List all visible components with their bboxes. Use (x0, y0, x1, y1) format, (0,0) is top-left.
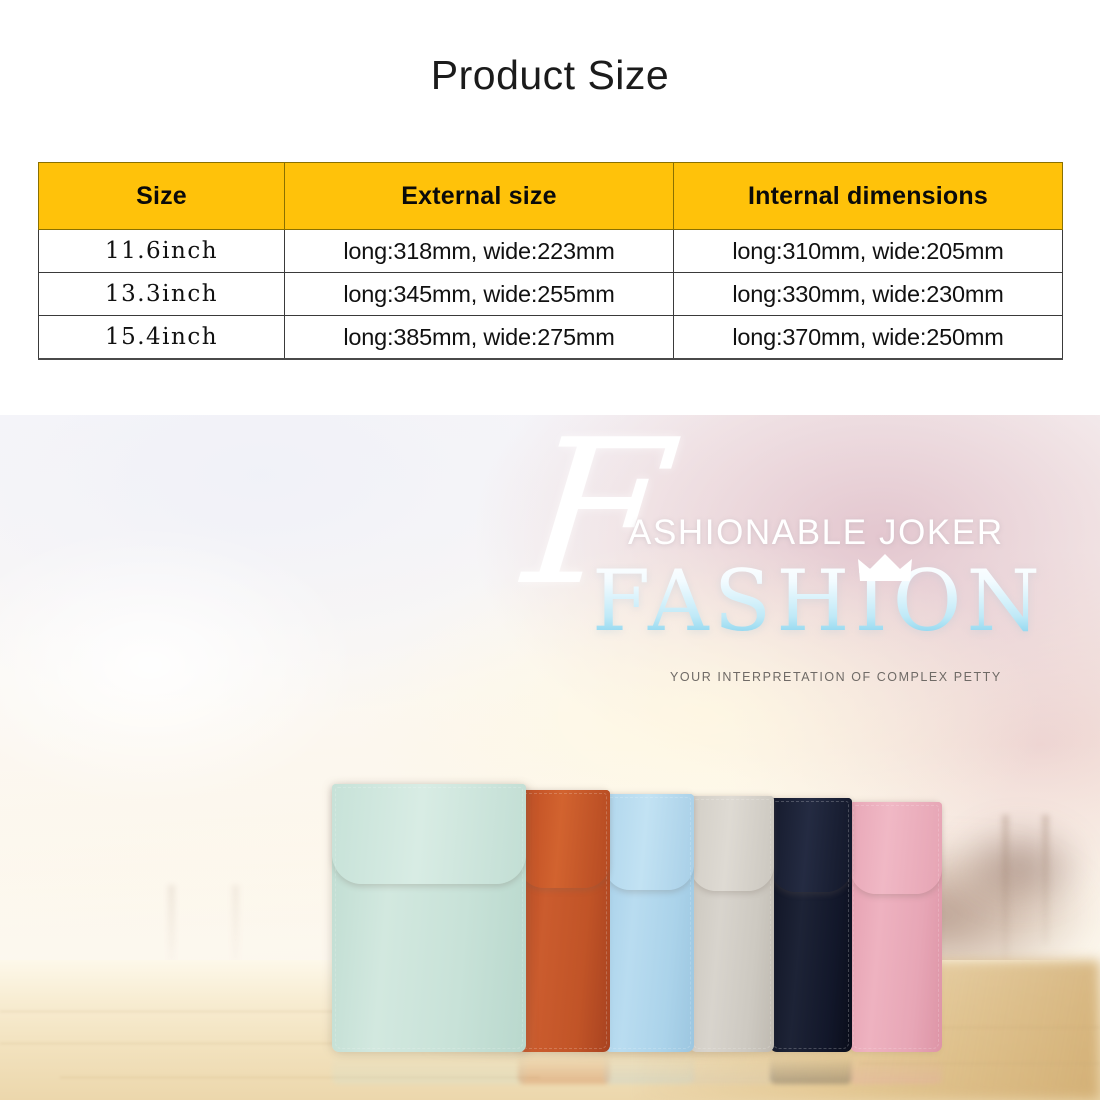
background-furniture-right-dark (930, 805, 1100, 925)
crown-icon (857, 553, 913, 583)
table-body: 11.6inch long:318mm, wide:223mm long:310… (39, 230, 1063, 360)
beige-gray-sleeve-flap (690, 796, 774, 891)
pink-sleeve[interactable] (850, 802, 942, 1052)
orange-brown-sleeve-flap (518, 790, 610, 888)
background-post (1042, 815, 1049, 945)
brand-tagline: YOUR INTERPRETATION OF COMPLEX PETTY (670, 670, 1002, 684)
cell-external-size: long:318mm, wide:223mm (285, 230, 674, 273)
black-navy-sleeve[interactable] (770, 798, 852, 1052)
mint-green-sleeve[interactable] (332, 784, 526, 1052)
cell-external-size: long:345mm, wide:255mm (285, 273, 674, 316)
light-blue-sleeve[interactable] (604, 794, 694, 1052)
black-navy-sleeve-reflection (770, 1056, 852, 1084)
table-row: 13.3inch long:345mm, wide:255mm long:330… (39, 273, 1063, 316)
background-post (1002, 815, 1009, 965)
column-header-size: Size (39, 163, 285, 230)
orange-brown-sleeve-reflection (518, 1054, 610, 1084)
table-header: Size External size Internal dimensions (39, 163, 1063, 230)
background-post (168, 885, 175, 965)
product-size-table: Size External size Internal dimensions 1… (38, 162, 1063, 360)
cell-size: 13.3inch (39, 273, 285, 316)
page-title: Product Size (0, 52, 1100, 99)
beige-gray-sleeve[interactable] (690, 796, 774, 1052)
black-navy-sleeve-flap (770, 798, 852, 892)
product-sleeve-group (332, 770, 944, 1100)
light-blue-sleeve-flap (604, 794, 694, 890)
brand-wordmark-fashion: FASHION (592, 552, 1045, 650)
table-row: 11.6inch long:318mm, wide:223mm long:310… (39, 230, 1063, 273)
table-header-row: Size External size Internal dimensions (39, 163, 1063, 230)
cell-size: 11.6inch (39, 230, 285, 273)
pink-sleeve-reflection (850, 1056, 942, 1084)
column-header-external-size: External size (285, 163, 674, 230)
product-size-page: Product Size Size External size Internal… (0, 0, 1100, 1100)
background-post (232, 885, 239, 965)
cell-internal-dimensions: long:370mm, wide:250mm (674, 316, 1063, 360)
cell-size: 15.4inch (39, 316, 285, 360)
mint-green-sleeve-flap (332, 784, 526, 884)
hero-product-photo: F ASHIONABLE JOKER FASHION YOUR INTERPRE… (0, 415, 1100, 1100)
cell-internal-dimensions: long:330mm, wide:230mm (674, 273, 1063, 316)
orange-brown-sleeve[interactable] (518, 790, 610, 1052)
beige-gray-sleeve-reflection (690, 1056, 774, 1084)
mint-green-sleeve-reflection (332, 1052, 526, 1084)
table-row: 15.4inch long:385mm, wide:275mm long:370… (39, 316, 1063, 360)
brand-name-fashionable-joker: ASHIONABLE JOKER (628, 513, 1004, 553)
pink-sleeve-flap (850, 802, 942, 894)
light-blue-sleeve-reflection (604, 1054, 694, 1084)
spec-section: Product Size Size External size Internal… (0, 0, 1100, 415)
brand-lockup: F ASHIONABLE JOKER FASHION YOUR INTERPRE… (520, 430, 1080, 710)
cell-external-size: long:385mm, wide:275mm (285, 316, 674, 360)
cell-internal-dimensions: long:310mm, wide:205mm (674, 230, 1063, 273)
column-header-internal-dimensions: Internal dimensions (674, 163, 1063, 230)
